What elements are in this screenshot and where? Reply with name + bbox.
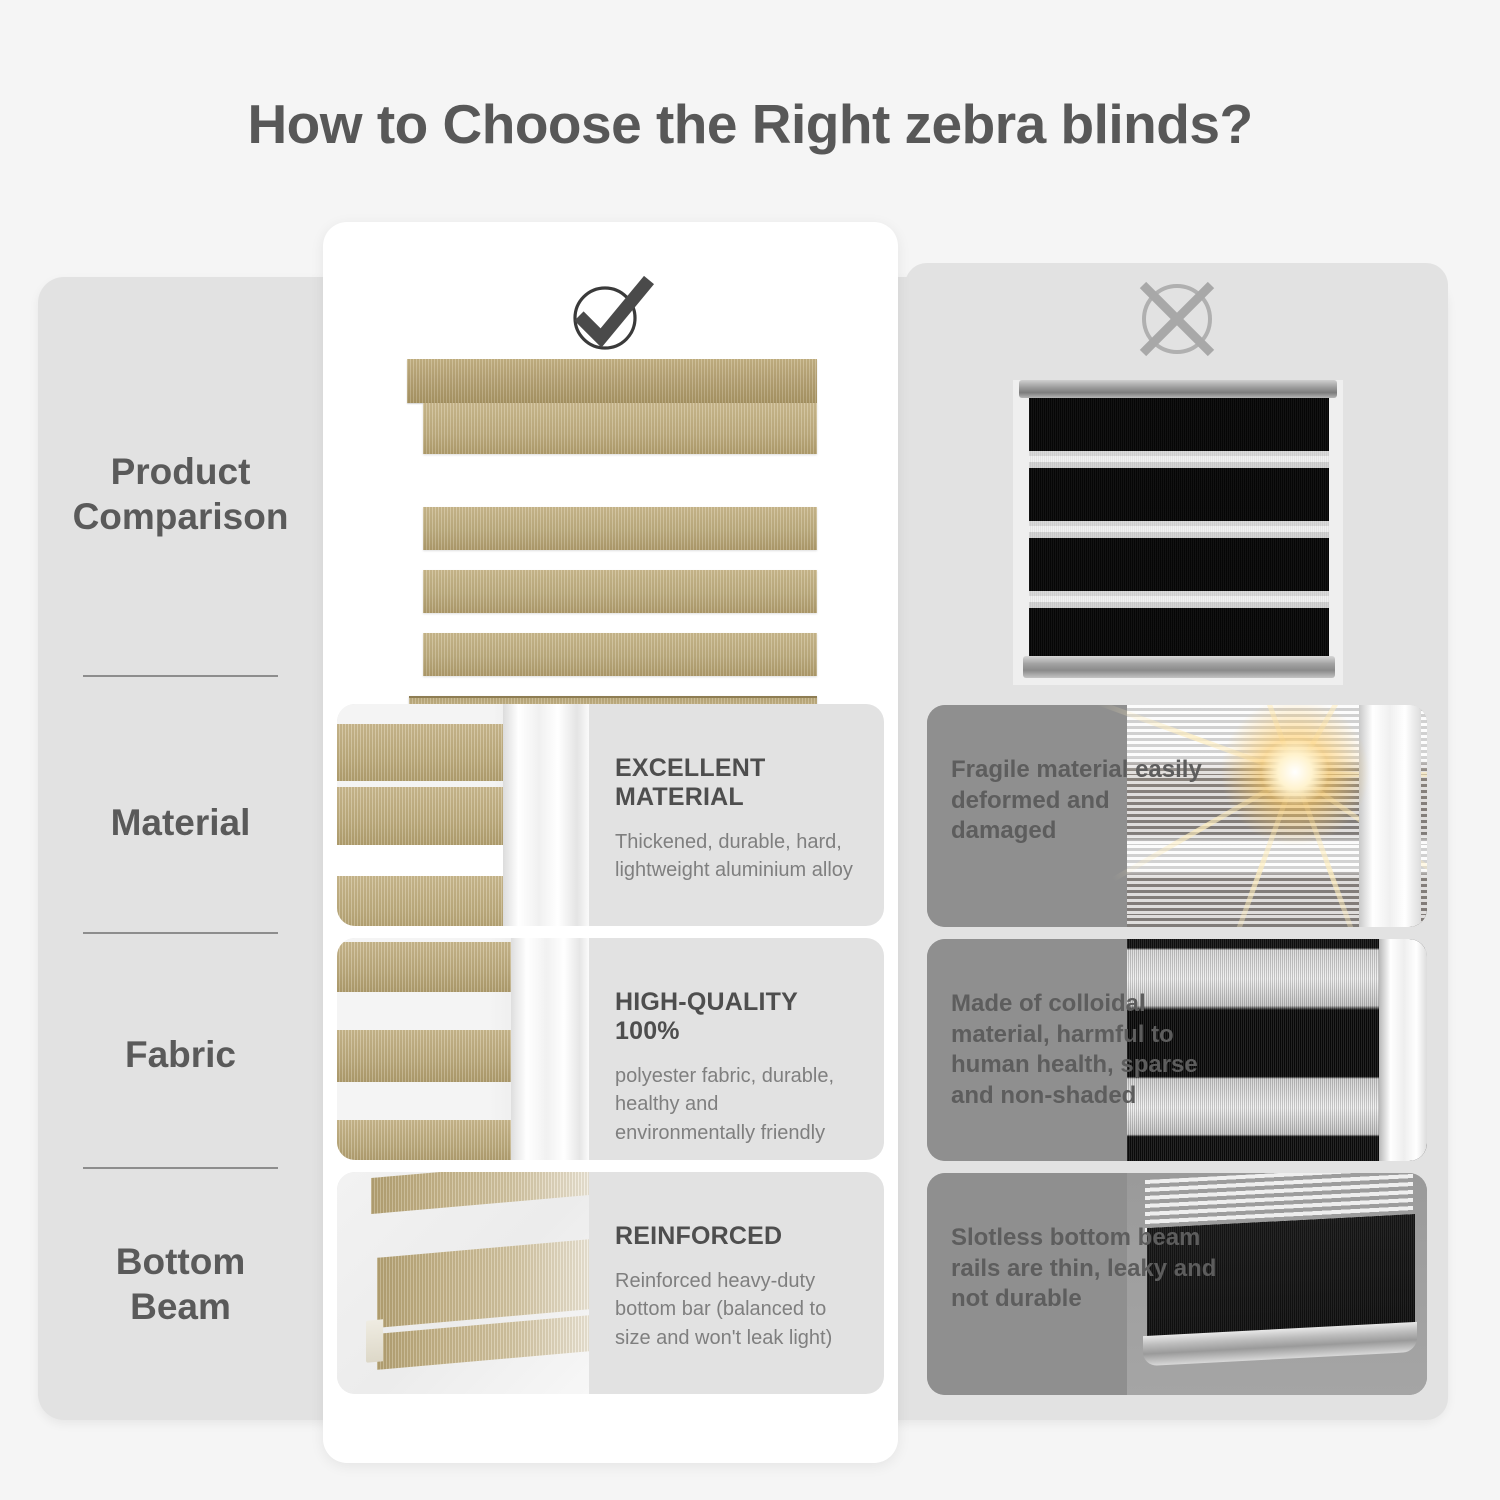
sidebar-item-material: Material bbox=[38, 800, 323, 845]
sidebar-divider bbox=[83, 1167, 278, 1169]
sheer-gap bbox=[337, 845, 519, 876]
good-feature-card: REINFORCED Reinforced heavy-duty bottom … bbox=[337, 1172, 884, 1394]
blind-slat bbox=[337, 724, 526, 781]
feature-heading: REINFORCED bbox=[615, 1222, 860, 1251]
feature-body: polyester fabric, durable, healthy and e… bbox=[615, 1062, 860, 1147]
criteria-sidebar: Product Comparison Material Fabric Botto… bbox=[38, 277, 323, 1420]
blind-slat bbox=[337, 942, 525, 992]
blind-slat bbox=[337, 876, 526, 926]
bad-feature-text: Made of colloidal material, harmful to h… bbox=[951, 989, 1221, 1112]
blind-slat bbox=[423, 570, 817, 613]
fabric-photo bbox=[337, 938, 589, 1160]
blind-pane bbox=[337, 724, 523, 926]
blind-top-slat bbox=[423, 403, 817, 454]
sidebar-label-line1: Product bbox=[111, 451, 251, 492]
blind-headrail bbox=[407, 359, 817, 403]
good-feature-text: HIGH-QUALITY 100% polyester fabric, dura… bbox=[589, 938, 884, 1160]
sidebar-label-line2: Beam bbox=[130, 1286, 231, 1327]
bad-feature-text: Slotless bottom beam rails are thin, lea… bbox=[951, 1223, 1221, 1315]
good-feature-text: EXCELLENT MATERIAL Thickened, durable, h… bbox=[589, 704, 884, 926]
good-hero-blind-image bbox=[407, 359, 817, 699]
bad-product-column: Fragile material easily deformed and dam… bbox=[905, 263, 1448, 1420]
good-feature-image bbox=[337, 938, 589, 1160]
good-feature-text: REINFORCED Reinforced heavy-duty bottom … bbox=[589, 1172, 884, 1394]
cross-icon-slot bbox=[905, 273, 1448, 365]
blind-slat bbox=[337, 787, 526, 845]
window-frame bbox=[503, 704, 589, 926]
bad-hero-blind-image bbox=[1013, 380, 1343, 685]
good-feature-image bbox=[337, 1172, 589, 1394]
sidebar-label-line1: Bottom bbox=[116, 1241, 245, 1282]
blind-slat bbox=[423, 507, 817, 550]
bad-feature-card: Fragile material easily deformed and dam… bbox=[927, 705, 1427, 927]
bottom-beam-photo bbox=[337, 1172, 589, 1394]
sidebar-divider bbox=[83, 675, 278, 677]
bottom-bar-end-cap bbox=[366, 1319, 383, 1362]
cross-circle-icon bbox=[1131, 273, 1223, 365]
check-icon-slot bbox=[323, 272, 898, 356]
good-feature-card: EXCELLENT MATERIAL Thickened, durable, h… bbox=[337, 704, 884, 926]
good-product-column: EXCELLENT MATERIAL Thickened, durable, h… bbox=[323, 222, 898, 1463]
blind-fabric bbox=[1029, 398, 1329, 656]
sidebar-item-fabric: Fabric bbox=[38, 1032, 323, 1077]
feature-body: Thickened, durable, hard, lightweight al… bbox=[615, 828, 860, 885]
bad-feature-card: Slotless bottom beam rails are thin, lea… bbox=[927, 1173, 1427, 1395]
sidebar-item-product-comparison: Product Comparison bbox=[38, 449, 323, 539]
blind-slat bbox=[371, 1172, 589, 1214]
good-feature-card: HIGH-QUALITY 100% polyester fabric, dura… bbox=[337, 938, 884, 1160]
feature-heading: EXCELLENT MATERIAL bbox=[615, 754, 860, 812]
bad-feature-card: Made of colloidal material, harmful to h… bbox=[927, 939, 1427, 1161]
sidebar-divider bbox=[83, 932, 278, 934]
material-photo bbox=[337, 704, 589, 926]
sidebar-item-bottom-beam: Bottom Beam bbox=[38, 1239, 323, 1329]
feature-body: Reinforced heavy-duty bottom bar (balanc… bbox=[615, 1267, 860, 1352]
feature-heading: HIGH-QUALITY 100% bbox=[615, 988, 860, 1046]
bad-feature-text: Fragile material easily deformed and dam… bbox=[951, 755, 1221, 847]
window-jamb bbox=[1379, 939, 1427, 1161]
blind-slat bbox=[423, 633, 817, 676]
sidebar-label-line2: Comparison bbox=[73, 496, 289, 537]
blind-bottom-rail bbox=[1023, 656, 1335, 678]
good-feature-image bbox=[337, 704, 589, 926]
window-frame bbox=[511, 938, 589, 1160]
page-title: How to Choose the Right zebra blinds? bbox=[0, 92, 1500, 156]
blind-slat bbox=[337, 1030, 525, 1082]
blind-slat bbox=[337, 1120, 525, 1160]
sun-flare bbox=[1220, 705, 1370, 847]
blind-headrail bbox=[1019, 380, 1337, 398]
blind-slat bbox=[377, 1238, 589, 1328]
check-circle-icon bbox=[563, 272, 659, 356]
